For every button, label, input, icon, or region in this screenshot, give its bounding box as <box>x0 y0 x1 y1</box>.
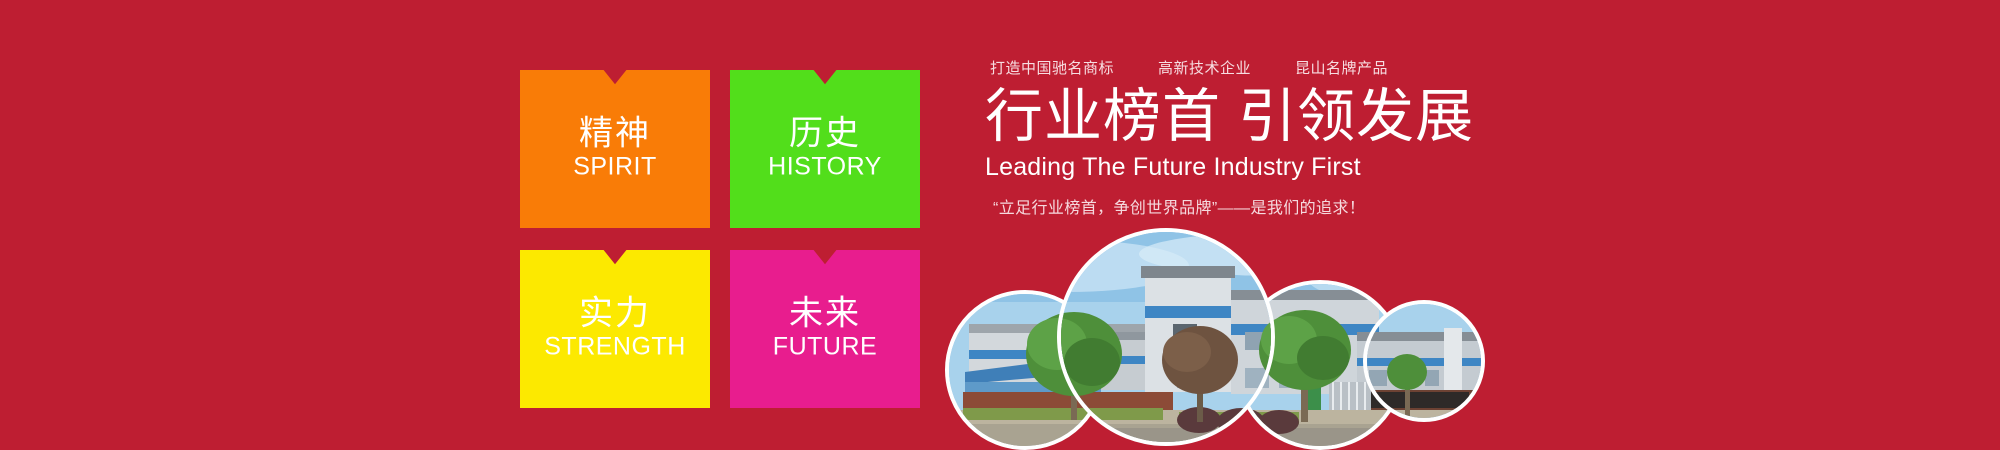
tile-future-label-cn: 未来 <box>736 294 914 332</box>
credential-badge-row: 打造中国驰名商标 高新技术企业 昆山名牌产品 <box>985 55 1545 79</box>
tile-future-content: 未来 FUTURE <box>730 294 920 361</box>
badge-hightech: 高新技术企业 <box>1158 57 1251 78</box>
tile-history-label-cn: 历史 <box>736 114 914 152</box>
factory-photo-cloud <box>945 228 1490 450</box>
value-tile-grid: 精神 SPIRIT 历史 HISTORY 实力 STRENGTH 未来 FUTU… <box>520 70 920 408</box>
factory-photo-image <box>1057 232 1275 446</box>
factory-photo-image <box>1363 300 1485 422</box>
tile-future-label-en: FUTURE <box>736 333 914 361</box>
tile-history[interactable]: 历史 HISTORY <box>730 70 920 228</box>
page-subtitle: Leading The Future Industry First <box>985 152 1545 182</box>
photo-lobe-center <box>1057 228 1275 446</box>
tile-spirit-label-cn: 精神 <box>526 114 704 152</box>
tile-strength-label-cn: 实力 <box>526 294 704 332</box>
company-tagline: “立足行业榜首，争创世界品牌”——是我们的追求！ <box>985 199 1545 220</box>
tile-spirit-content: 精神 SPIRIT <box>520 114 710 181</box>
tile-history-content: 历史 HISTORY <box>730 114 920 181</box>
page-title: 行业榜首 引领发展 <box>985 85 1545 150</box>
tile-strength-label-en: STRENGTH <box>526 333 704 361</box>
photo-lobe-right <box>1363 300 1485 422</box>
tile-spirit-label-en: SPIRIT <box>526 153 704 181</box>
badge-trademark: 打造中国驰名商标 <box>990 57 1114 78</box>
tile-strength[interactable]: 实力 STRENGTH <box>520 250 710 408</box>
tile-future[interactable]: 未来 FUTURE <box>730 250 920 408</box>
tile-history-label-en: HISTORY <box>736 153 914 181</box>
badge-famous-brand: 昆山名牌产品 <box>1295 57 1388 78</box>
headline-block: 打造中国驰名商标 高新技术企业 昆山名牌产品 行业榜首 引领发展 Leading… <box>985 55 1545 220</box>
tile-spirit[interactable]: 精神 SPIRIT <box>520 70 710 228</box>
tile-strength-content: 实力 STRENGTH <box>520 294 710 361</box>
promo-banner: 精神 SPIRIT 历史 HISTORY 实力 STRENGTH 未来 FUTU… <box>0 0 2000 450</box>
